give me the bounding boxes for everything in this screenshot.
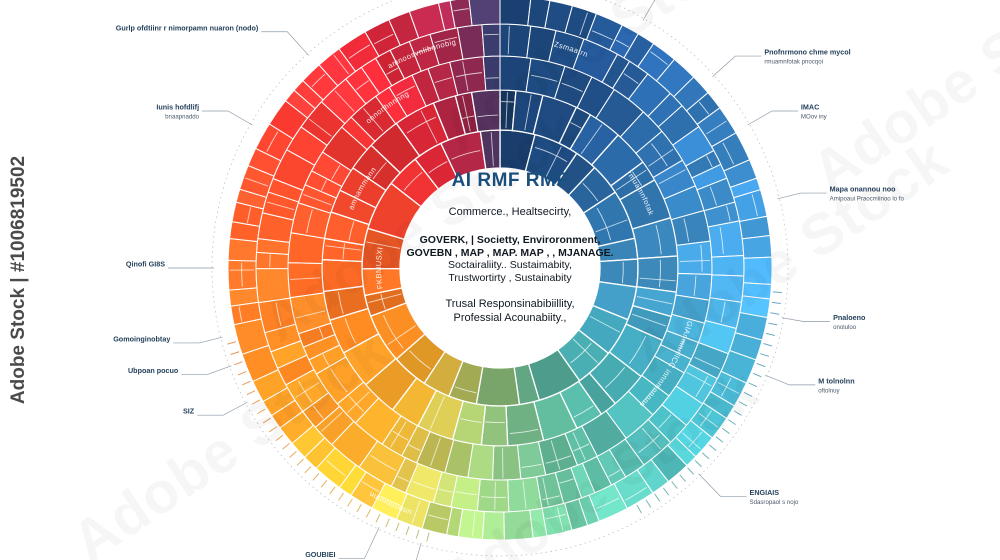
segment-divider bbox=[486, 78, 499, 79]
sunburst-segment[interactable] bbox=[228, 239, 257, 262]
tick-mark bbox=[330, 487, 335, 494]
sunburst-segment[interactable] bbox=[742, 235, 772, 258]
outer-label-sub: Sdasropaol s nojo bbox=[750, 499, 799, 506]
tick-mark bbox=[770, 313, 779, 314]
outer-label: Ubpoan pocuo bbox=[128, 366, 179, 375]
outer-label: Pnofnrmono chme mycol bbox=[764, 48, 850, 57]
sunburst-segment[interactable] bbox=[482, 511, 504, 540]
leader-line bbox=[713, 56, 762, 77]
leader-line bbox=[643, 0, 686, 20]
leader-line bbox=[197, 402, 247, 415]
outer-label: IMAC bbox=[801, 103, 819, 112]
leader-line bbox=[699, 474, 747, 497]
sunburst-segment[interactable] bbox=[322, 260, 363, 292]
watermark-stock-id: Adobe Stock | #1006819502 bbox=[8, 156, 30, 404]
outer-label-sub: onoluloo bbox=[833, 324, 857, 331]
tick-mark bbox=[406, 526, 409, 534]
outer-label: Pnaloeno bbox=[833, 313, 866, 322]
outer-label-sub: Amipoaui Praocmiinoo lo fo bbox=[830, 196, 905, 203]
outer-label: GOUBIEI bbox=[305, 550, 335, 559]
tick-mark bbox=[276, 435, 283, 440]
tick-mark bbox=[734, 411, 742, 416]
tick-mark bbox=[753, 373, 761, 376]
tick-mark bbox=[231, 352, 240, 355]
tick-mark bbox=[348, 499, 353, 507]
tick-mark bbox=[646, 500, 651, 508]
tick-mark bbox=[427, 533, 429, 542]
leader-line bbox=[261, 32, 308, 56]
tick-mark bbox=[766, 333, 775, 335]
sunburst-segment[interactable] bbox=[637, 256, 678, 292]
sunburst-segment[interactable] bbox=[504, 510, 533, 540]
tick-mark bbox=[305, 466, 311, 473]
sunburst-segment[interactable] bbox=[744, 257, 772, 284]
leader-line bbox=[181, 366, 231, 375]
tick-mark bbox=[739, 402, 747, 406]
sunburst-diagram-canvas: FKBMUSXIamnammannrmuamnfotakonnonhnnnngG… bbox=[0, 0, 1000, 560]
tick-mark bbox=[313, 474, 319, 481]
outer-label: Mapa onannou noo bbox=[830, 185, 896, 194]
tick-mark bbox=[680, 475, 686, 482]
tick-mark bbox=[366, 509, 370, 517]
tick-mark bbox=[757, 364, 765, 367]
outer-label: M tolnolnn bbox=[818, 376, 854, 385]
tick-mark bbox=[290, 451, 297, 457]
tick-mark bbox=[773, 292, 782, 293]
tick-mark bbox=[376, 514, 380, 522]
outer-label: Qinofi GI8S bbox=[126, 260, 165, 269]
outer-label: ENGIAIS bbox=[750, 488, 780, 497]
sunburst-segment[interactable] bbox=[469, 0, 500, 26]
tick-mark bbox=[672, 482, 678, 489]
tick-mark bbox=[772, 302, 781, 303]
tick-mark bbox=[297, 459, 303, 465]
sunburst-svg: FKBMUSXIamnammannrmuamnfotakonnonhnnnngG… bbox=[0, 0, 1000, 560]
sunburst-segment[interactable] bbox=[477, 479, 509, 512]
tick-mark bbox=[728, 420, 735, 425]
tick-mark bbox=[744, 392, 752, 396]
sunburst-segment[interactable] bbox=[256, 252, 288, 268]
tick-mark bbox=[416, 530, 419, 539]
tick-mark bbox=[749, 383, 757, 387]
sunburst-segment[interactable] bbox=[288, 263, 324, 298]
outer-label: Gomoinginobtay bbox=[113, 334, 170, 343]
tick-mark bbox=[637, 505, 642, 513]
tick-mark bbox=[269, 427, 276, 432]
tick-mark bbox=[702, 453, 709, 459]
watermark-sidebar: Adobe Stock | #1006819502 bbox=[2, 0, 36, 560]
leader-line bbox=[748, 111, 798, 125]
tick-mark bbox=[257, 409, 265, 414]
tick-mark bbox=[247, 391, 255, 395]
outer-label: SIZ bbox=[183, 407, 195, 416]
leader-line bbox=[173, 337, 222, 343]
tick-mark bbox=[709, 445, 716, 451]
tick-mark bbox=[763, 344, 772, 346]
sunburst-segment[interactable] bbox=[500, 0, 531, 26]
tick-mark bbox=[227, 342, 236, 344]
tick-mark bbox=[688, 468, 694, 475]
tick-mark bbox=[722, 428, 729, 433]
tick-mark bbox=[386, 519, 390, 527]
sunburst-segment[interactable] bbox=[483, 56, 500, 91]
tick-mark bbox=[663, 488, 668, 495]
tick-mark bbox=[357, 504, 362, 512]
segment-divider bbox=[495, 482, 496, 510]
tick-mark bbox=[716, 437, 723, 443]
sunburst-segment[interactable] bbox=[712, 256, 744, 276]
leader-line bbox=[778, 193, 827, 199]
leader-line bbox=[339, 527, 380, 558]
outer-label-sub: rmuamnfotak pnocqoi bbox=[764, 59, 823, 66]
tick-mark bbox=[321, 480, 327, 487]
tick-mark bbox=[695, 460, 701, 466]
outer-label-sub: bnaapnaddo bbox=[165, 114, 200, 121]
tick-mark bbox=[655, 494, 660, 501]
tick-mark bbox=[263, 418, 271, 423]
outer-label-sub: MOov iny bbox=[801, 114, 828, 121]
tick-mark bbox=[396, 523, 399, 531]
outer-label-sub: oftolnuy bbox=[818, 387, 840, 394]
sunburst-segment[interactable] bbox=[708, 221, 744, 257]
leader-line bbox=[765, 375, 815, 385]
leader-line bbox=[202, 111, 252, 125]
outer-label: Iunis hofdlifj bbox=[156, 103, 199, 112]
leader-line bbox=[782, 318, 830, 322]
tick-mark bbox=[242, 381, 250, 385]
segment-divider bbox=[484, 34, 499, 35]
sunburst-segment[interactable] bbox=[500, 24, 531, 58]
outer-label: Gurlp ofdtiinr r nimorpamn nuaron (nodo) bbox=[116, 23, 259, 32]
tick-mark bbox=[252, 400, 260, 404]
tick-mark bbox=[283, 443, 290, 449]
sunburst-segment[interactable] bbox=[476, 367, 519, 406]
sunburst-segment[interactable] bbox=[482, 24, 500, 57]
tick-mark bbox=[238, 372, 246, 375]
sunburst-segment[interactable] bbox=[677, 241, 712, 274]
tick-mark bbox=[760, 354, 769, 357]
sunburst-segment[interactable] bbox=[493, 445, 521, 480]
tick-mark bbox=[338, 493, 343, 500]
tick-mark bbox=[234, 362, 242, 365]
tick-mark bbox=[768, 323, 777, 325]
sunburst-segment[interactable] bbox=[256, 269, 290, 303]
leader-line bbox=[385, 543, 421, 560]
center-disc bbox=[400, 168, 600, 368]
